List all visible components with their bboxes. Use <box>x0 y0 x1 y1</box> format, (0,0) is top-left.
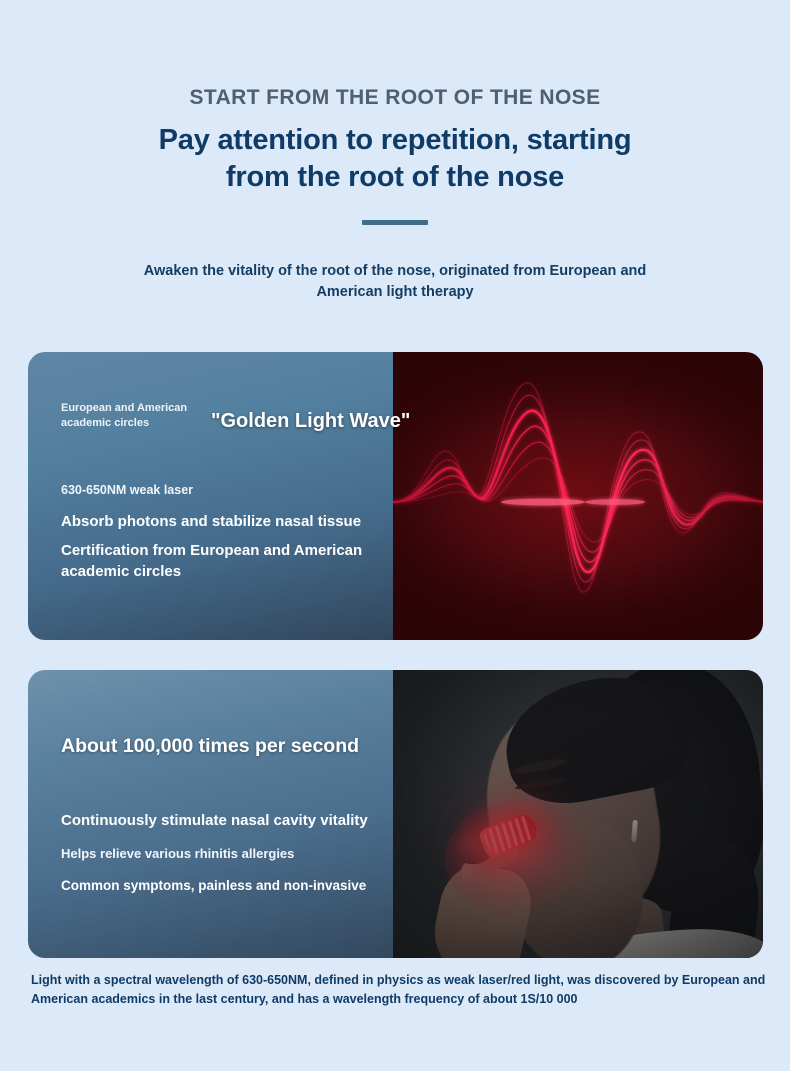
card-1-media-waveform <box>393 352 763 640</box>
page-eyebrow: START FROM THE ROOT OF THE NOSE <box>0 86 790 110</box>
card-1-bullet-2: Certification from European and American… <box>61 541 393 581</box>
card-1-spec: 630-650NM weak laser <box>61 483 393 497</box>
card-1-text-panel: European and American academic circles "… <box>28 352 393 640</box>
card-2-media-photo <box>393 670 763 958</box>
card-1-kicker: European and American academic circles <box>61 401 211 431</box>
page-title: Pay attention to repetition, starting fr… <box>0 122 790 196</box>
card-1-bullet-1: Absorb photons and stabilize nasal tissu… <box>61 512 393 532</box>
card-2-text-panel: About 100,000 times per second Continuou… <box>28 670 393 958</box>
card-2-bullet-2: Helps relieve various rhinitis allergies <box>61 846 393 861</box>
card-2-bullet-1: Continuously stimulate nasal cavity vita… <box>61 812 393 829</box>
page-subhead: Awaken the vitality of the root of the n… <box>140 261 650 302</box>
page-title-line-1: Pay attention to repetition, starting <box>0 122 790 159</box>
page-title-line-2: from the root of the nose <box>0 159 790 196</box>
promo-page: START FROM THE ROOT OF THE NOSE Pay atte… <box>0 0 790 1071</box>
feature-card-golden-light-wave: European and American academic circles "… <box>28 352 763 640</box>
card-2-bullet-3: Common symptoms, painless and non-invasi… <box>61 878 393 893</box>
red-waveform-icon <box>393 352 763 640</box>
footer-note: Light with a spectral wavelength of 630-… <box>31 971 771 1010</box>
card-1-title-row: European and American academic circles "… <box>61 401 393 457</box>
page-header: START FROM THE ROOT OF THE NOSE Pay atte… <box>0 0 790 302</box>
card-2-title: About 100,000 times per second <box>61 735 393 758</box>
feature-card-frequency: About 100,000 times per second Continuou… <box>28 670 763 958</box>
card-1-title: "Golden Light Wave" <box>211 410 410 433</box>
photo-dim-overlay <box>393 670 763 958</box>
title-divider <box>362 220 428 225</box>
